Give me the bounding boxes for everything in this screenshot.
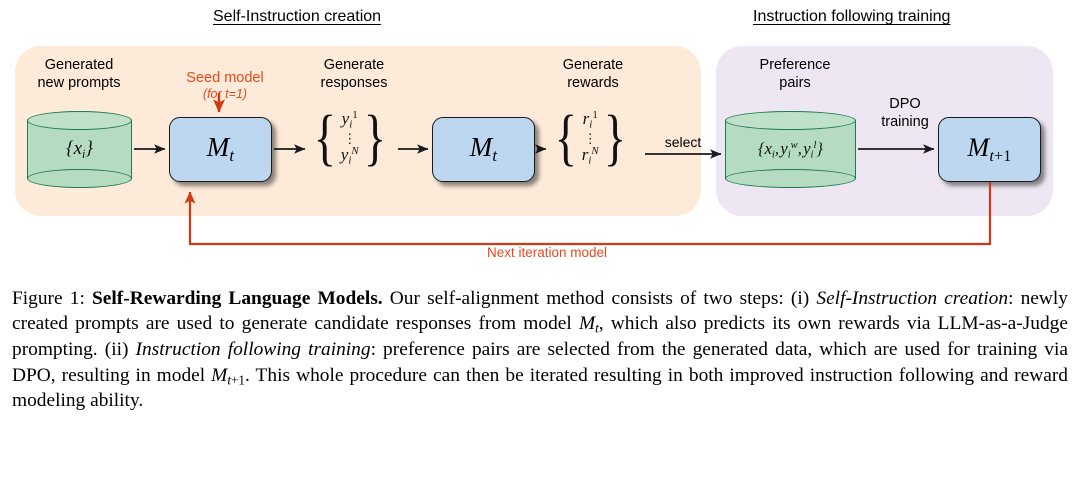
figure-caption: Figure 1: Self-Rewarding Language Models… [12,286,1068,414]
caption-italic-instruction-following: Instruction following training [136,339,371,360]
cylinder-generated-prompts: {xi} [27,111,132,188]
caption-figure-number: Figure 1: [12,288,85,309]
figure-diagram: Self-Instruction creation Instruction fo… [0,0,1076,272]
cylinder-generated-prompts-label: {xi} [27,111,132,188]
caption-math-mt: M [579,313,595,334]
caption-math-mt1-sub: t+1 [227,372,245,387]
arrow-layer [0,0,1076,272]
caption-math-mt1: M [211,365,227,386]
caption-bold-title: Self-Rewarding Language Models. [92,288,383,309]
arrow-next-iteration-loop [190,182,990,244]
caption-text-1: Our self-alignment method consists of tw… [383,288,817,309]
cylinder-preference-pairs: {xi, yiw, yil} [725,111,856,188]
cylinder-preference-pairs-label: {xi, yiw, yil} [725,111,856,188]
caption-italic-self-instruction: Self-Instruction creation [816,288,1008,309]
